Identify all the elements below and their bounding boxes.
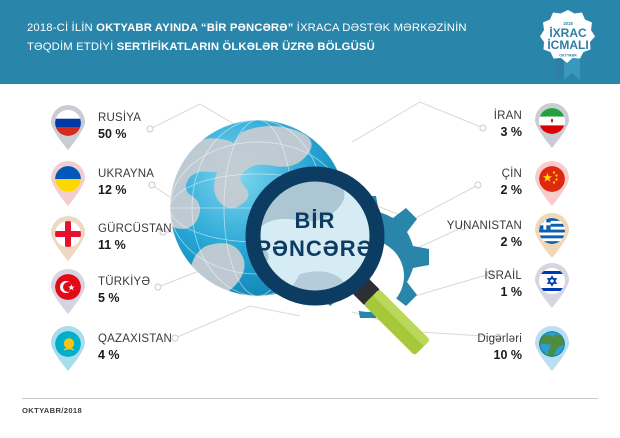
country-value: 1 % bbox=[484, 285, 522, 300]
list-item-ukrayna[interactable]: UKRAYNA 12 % bbox=[48, 160, 154, 206]
label-rusiya: RUSİYA 50 % bbox=[98, 112, 141, 141]
label-israil: İSRAİL 1 % bbox=[484, 270, 522, 299]
label-cin: ÇİN 2 % bbox=[500, 168, 522, 197]
country-name: RUSİYA bbox=[98, 112, 141, 126]
country-name: UKRAYNA bbox=[98, 168, 154, 182]
header-banner: 2018-Cİ İLİN OKTYABR AYINDA “BİR PƏNCƏRƏ… bbox=[0, 0, 620, 84]
country-value: 2 % bbox=[500, 183, 522, 198]
label-turkiye: TÜRKİYƏ 5 % bbox=[98, 276, 150, 305]
country-name: YUNANISTAN bbox=[447, 220, 522, 234]
map-pin-rusiya bbox=[48, 104, 88, 150]
map-pin-digerleri bbox=[532, 325, 572, 371]
country-name: Digərləri bbox=[477, 333, 522, 347]
label-iran: İRAN 3 % bbox=[494, 110, 522, 139]
flag-icon-kazakhstan bbox=[55, 331, 81, 357]
country-name: QAZAXISTAN bbox=[98, 333, 172, 347]
list-item-qazaxistan[interactable]: QAZAXISTAN 4 % bbox=[48, 325, 172, 371]
logo-month: OKTYABR bbox=[559, 54, 577, 58]
flag-icon-israel bbox=[539, 268, 565, 294]
label-digerleri: Digərləri 10 % bbox=[477, 333, 522, 362]
map-pin-yunanistan bbox=[532, 212, 572, 258]
country-name: ÇİN bbox=[500, 168, 522, 182]
footer-date: OKTYABR/2018 bbox=[22, 406, 82, 415]
flag-icon-china bbox=[539, 166, 565, 192]
country-name: GÜRCÜSTAN bbox=[98, 223, 172, 237]
country-value: 50 % bbox=[98, 127, 141, 142]
list-item-cin[interactable]: ÇİN 2 % bbox=[500, 160, 572, 206]
globe-icon-world bbox=[539, 331, 565, 357]
country-name: İSRAİL bbox=[484, 270, 522, 284]
country-value: 10 % bbox=[477, 348, 522, 363]
title-line2-bold: SERTİFİKATLARIN ÖLKƏLƏR ÜZRƏ BÖLGÜSÜ bbox=[117, 41, 375, 53]
title-line2-pre: TƏQDİM ETDİYİ bbox=[27, 41, 117, 53]
infographic-canvas: 2018-Cİ İLİN OKTYABR AYINDA “BİR PƏNCƏRƏ… bbox=[0, 0, 620, 438]
list-item-gurcustan[interactable]: GÜRCÜSTAN 11 % bbox=[48, 215, 172, 261]
list-item-israil[interactable]: İSRAİL 1 % bbox=[484, 262, 572, 308]
list-item-iran[interactable]: İRAN 3 % bbox=[494, 102, 572, 148]
footer-divider bbox=[22, 398, 598, 399]
map-pin-cin bbox=[532, 160, 572, 206]
center-illustration: BİR PƏNCƏRƏ bbox=[150, 96, 480, 386]
list-item-rusiya[interactable]: RUSİYA 50 % bbox=[48, 104, 141, 150]
country-value: 5 % bbox=[98, 291, 150, 306]
country-value: 4 % bbox=[98, 348, 172, 363]
title-line1-post: İXRACA DƏSTƏK MƏRKƏZİNİN bbox=[293, 22, 466, 34]
list-item-turkiye[interactable]: TÜRKİYƏ 5 % bbox=[48, 268, 150, 314]
country-name: TÜRKİYƏ bbox=[98, 276, 150, 290]
country-value: 3 % bbox=[494, 125, 522, 140]
country-name: İRAN bbox=[494, 110, 522, 124]
magnifier-text-line1: BİR bbox=[295, 208, 336, 233]
map-pin-ukrayna bbox=[48, 160, 88, 206]
flag-icon-ukraine bbox=[55, 166, 81, 192]
map-pin-gurcustan bbox=[48, 215, 88, 261]
flag-icon-greece bbox=[539, 218, 565, 244]
page-title: 2018-Cİ İLİN OKTYABR AYINDA “BİR PƏNCƏRƏ… bbox=[27, 19, 497, 56]
country-value: 2 % bbox=[447, 235, 522, 250]
flag-icon-turkey bbox=[55, 274, 81, 300]
ixrac-icmali-logo: 2018 İXRAC İCMALI OKTYABR bbox=[532, 6, 604, 84]
logo-line2: İCMALI bbox=[547, 37, 588, 52]
title-line1-bold: OKTYABR AYINDA “BİR PƏNCƏRƏ” bbox=[96, 22, 293, 34]
flag-icon-iran bbox=[539, 108, 565, 134]
map-pin-turkiye bbox=[48, 268, 88, 314]
list-item-yunanistan[interactable]: YUNANISTAN 2 % bbox=[447, 212, 572, 258]
label-ukrayna: UKRAYNA 12 % bbox=[98, 168, 154, 197]
map-pin-israil bbox=[532, 262, 572, 308]
country-value: 12 % bbox=[98, 183, 154, 198]
flag-icon-georgia bbox=[55, 221, 81, 247]
flag-icon-russia bbox=[55, 110, 81, 136]
label-yunanistan: YUNANISTAN 2 % bbox=[447, 220, 522, 249]
magnifier-text-line2: PƏNCƏRƏ bbox=[256, 236, 373, 261]
title-line1-pre: 2018-Cİ İLİN bbox=[27, 22, 96, 34]
map-pin-iran bbox=[532, 102, 572, 148]
label-qazaxistan: QAZAXISTAN 4 % bbox=[98, 333, 172, 362]
list-item-digerleri[interactable]: Digərləri 10 % bbox=[477, 325, 572, 371]
country-value: 11 % bbox=[98, 238, 172, 253]
label-gurcustan: GÜRCÜSTAN 11 % bbox=[98, 223, 172, 252]
map-pin-qazaxistan bbox=[48, 325, 88, 371]
